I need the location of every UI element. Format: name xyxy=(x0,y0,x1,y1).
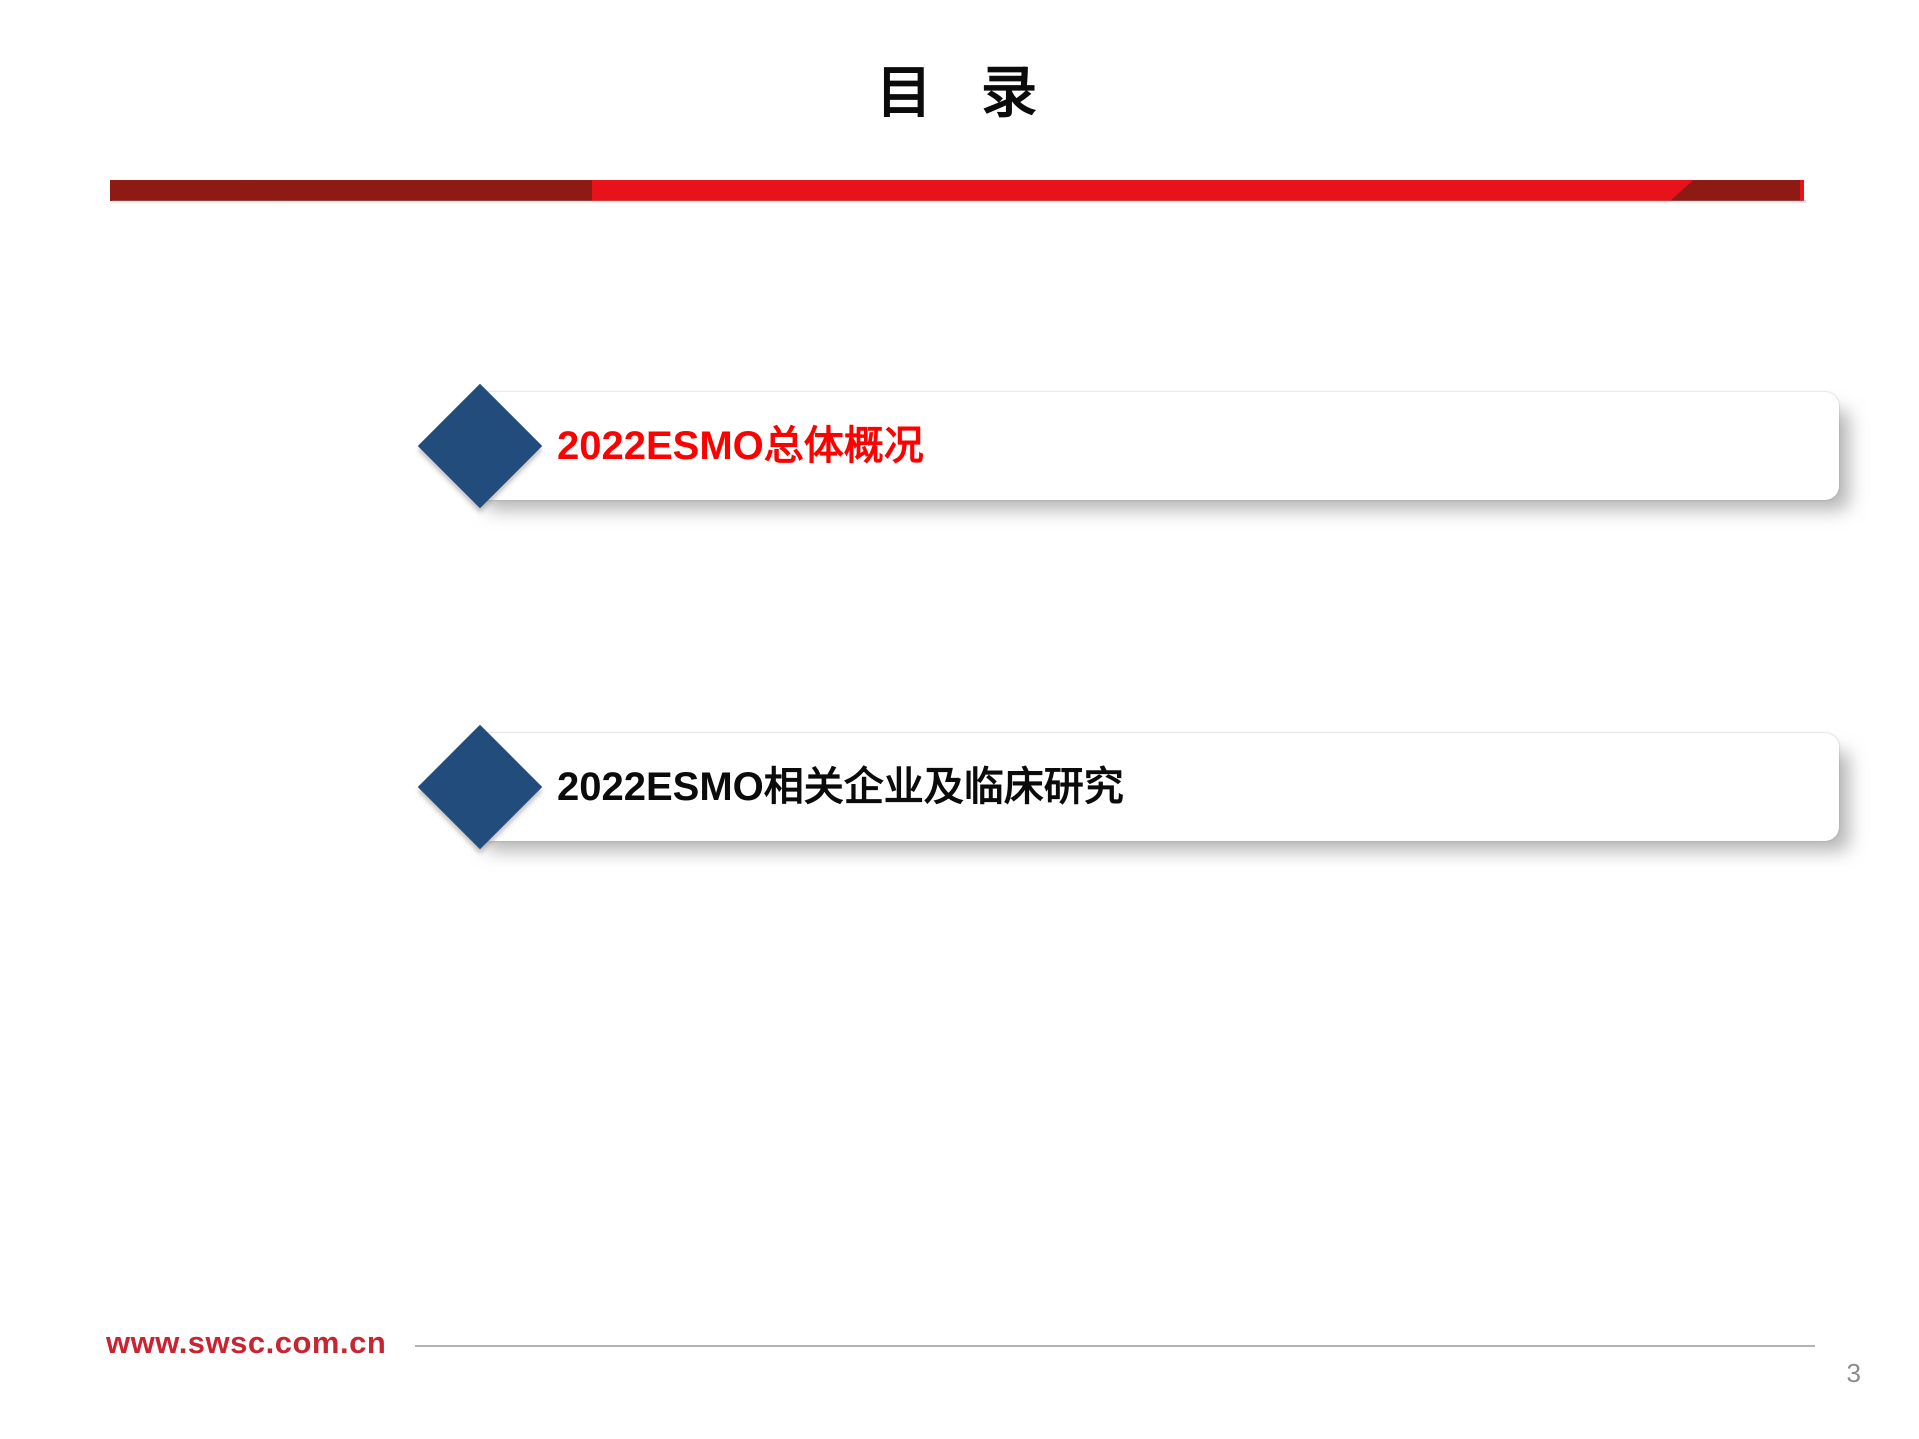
slide-canvas: 目 录 2022ESMO总体概况 2022ESMO相关企业及临床研究 www.s… xyxy=(0,0,1919,1439)
toc-item-1-label: 2022ESMO总体概况 xyxy=(557,392,924,500)
toc-item-2[interactable]: 2022ESMO相关企业及临床研究 xyxy=(467,733,1839,841)
footer-divider xyxy=(415,1345,1815,1347)
page-number: 3 xyxy=(1847,1358,1861,1389)
toc-item-1[interactable]: 2022ESMO总体概况 xyxy=(467,392,1839,500)
accent-bar-shadow xyxy=(112,200,1806,204)
decorative-accent-bar xyxy=(110,180,1804,201)
toc-item-2-label: 2022ESMO相关企业及临床研究 xyxy=(557,733,1124,841)
footer-website[interactable]: www.swsc.com.cn xyxy=(106,1325,386,1361)
page-title: 目 录 xyxy=(0,58,1919,128)
